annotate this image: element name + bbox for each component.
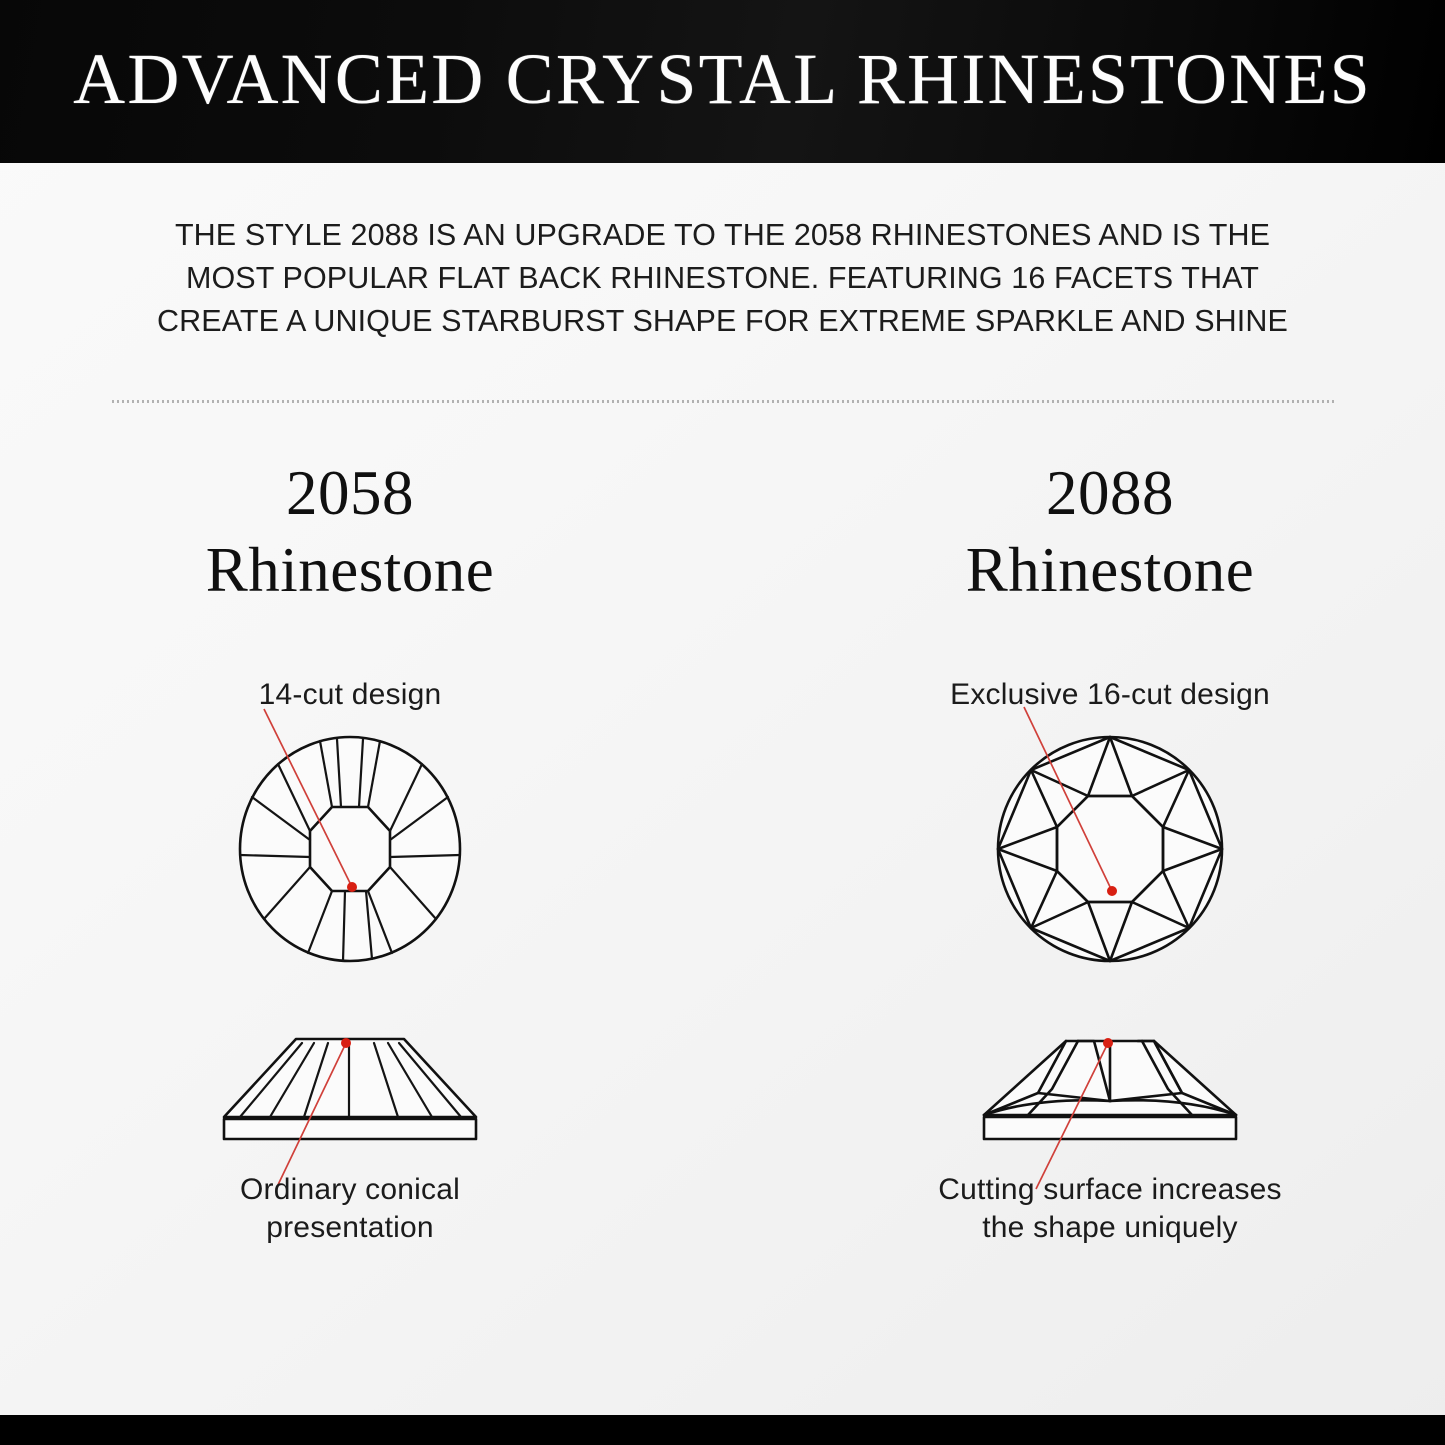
caption-2088-line-2: the shape uniquely [790, 1209, 1430, 1247]
column-2058-title: 2058 Rhinestone [30, 455, 670, 609]
column-2058: 2058 Rhinestone 14-cut design [30, 455, 670, 1247]
top-view-2058-wrapper [30, 721, 670, 971]
leader-dot-2058-side [341, 1038, 351, 1048]
caption-2088: Cutting surface increases the shape uniq… [790, 1171, 1430, 1247]
intro-line-2: MOST POPULAR FLAT BACK RHINESTONE. FEATU… [110, 257, 1335, 300]
column-2088-title: 2088 Rhinestone [790, 455, 1430, 609]
column-2088-title-word: Rhinestone [790, 532, 1430, 609]
caption-2058-line-1: Ordinary conical [30, 1171, 670, 1209]
footer-band [0, 1415, 1445, 1445]
leader-dot-2058-top [347, 882, 357, 892]
column-2088-title-number: 2088 [790, 455, 1430, 532]
column-2058-title-word: Rhinestone [30, 532, 670, 609]
page-title: ADVANCED CRYSTAL RHINESTONES [0, 0, 1445, 163]
starburst-16-facet-icon [960, 721, 1260, 971]
intro-paragraph: THE STYLE 2088 IS AN UPGRADE TO THE 2058… [110, 214, 1335, 343]
round-brilliant-14-facet-icon [200, 721, 500, 971]
cut-label-2058: 14-cut design [30, 677, 670, 713]
conical-profile-icon [200, 1027, 500, 1147]
leader-dot-2088-top [1107, 886, 1117, 896]
column-2088: 2088 Rhinestone Exclusive 16-cut design [790, 455, 1430, 1247]
cut-label-2088: Exclusive 16-cut design [790, 677, 1430, 713]
leader-dot-2088-side [1103, 1038, 1113, 1048]
side-view-2058-wrapper [30, 1027, 670, 1147]
intro-line-3: CREATE A UNIQUE STARBURST SHAPE FOR EXTR… [110, 300, 1335, 343]
side-view-2088-wrapper [790, 1027, 1430, 1147]
section-divider [112, 400, 1334, 403]
caption-2058-line-2: presentation [30, 1209, 670, 1247]
column-2058-title-number: 2058 [30, 455, 670, 532]
caption-2058: Ordinary conical presentation [30, 1171, 670, 1247]
intro-line-1: THE STYLE 2088 IS AN UPGRADE TO THE 2058… [110, 214, 1335, 257]
top-view-2088-wrapper [790, 721, 1430, 971]
product-infographic: ADVANCED CRYSTAL RHINESTONES THE STYLE 2… [0, 0, 1445, 1445]
starburst-profile-icon [960, 1027, 1260, 1147]
caption-2088-line-1: Cutting surface increases [790, 1171, 1430, 1209]
